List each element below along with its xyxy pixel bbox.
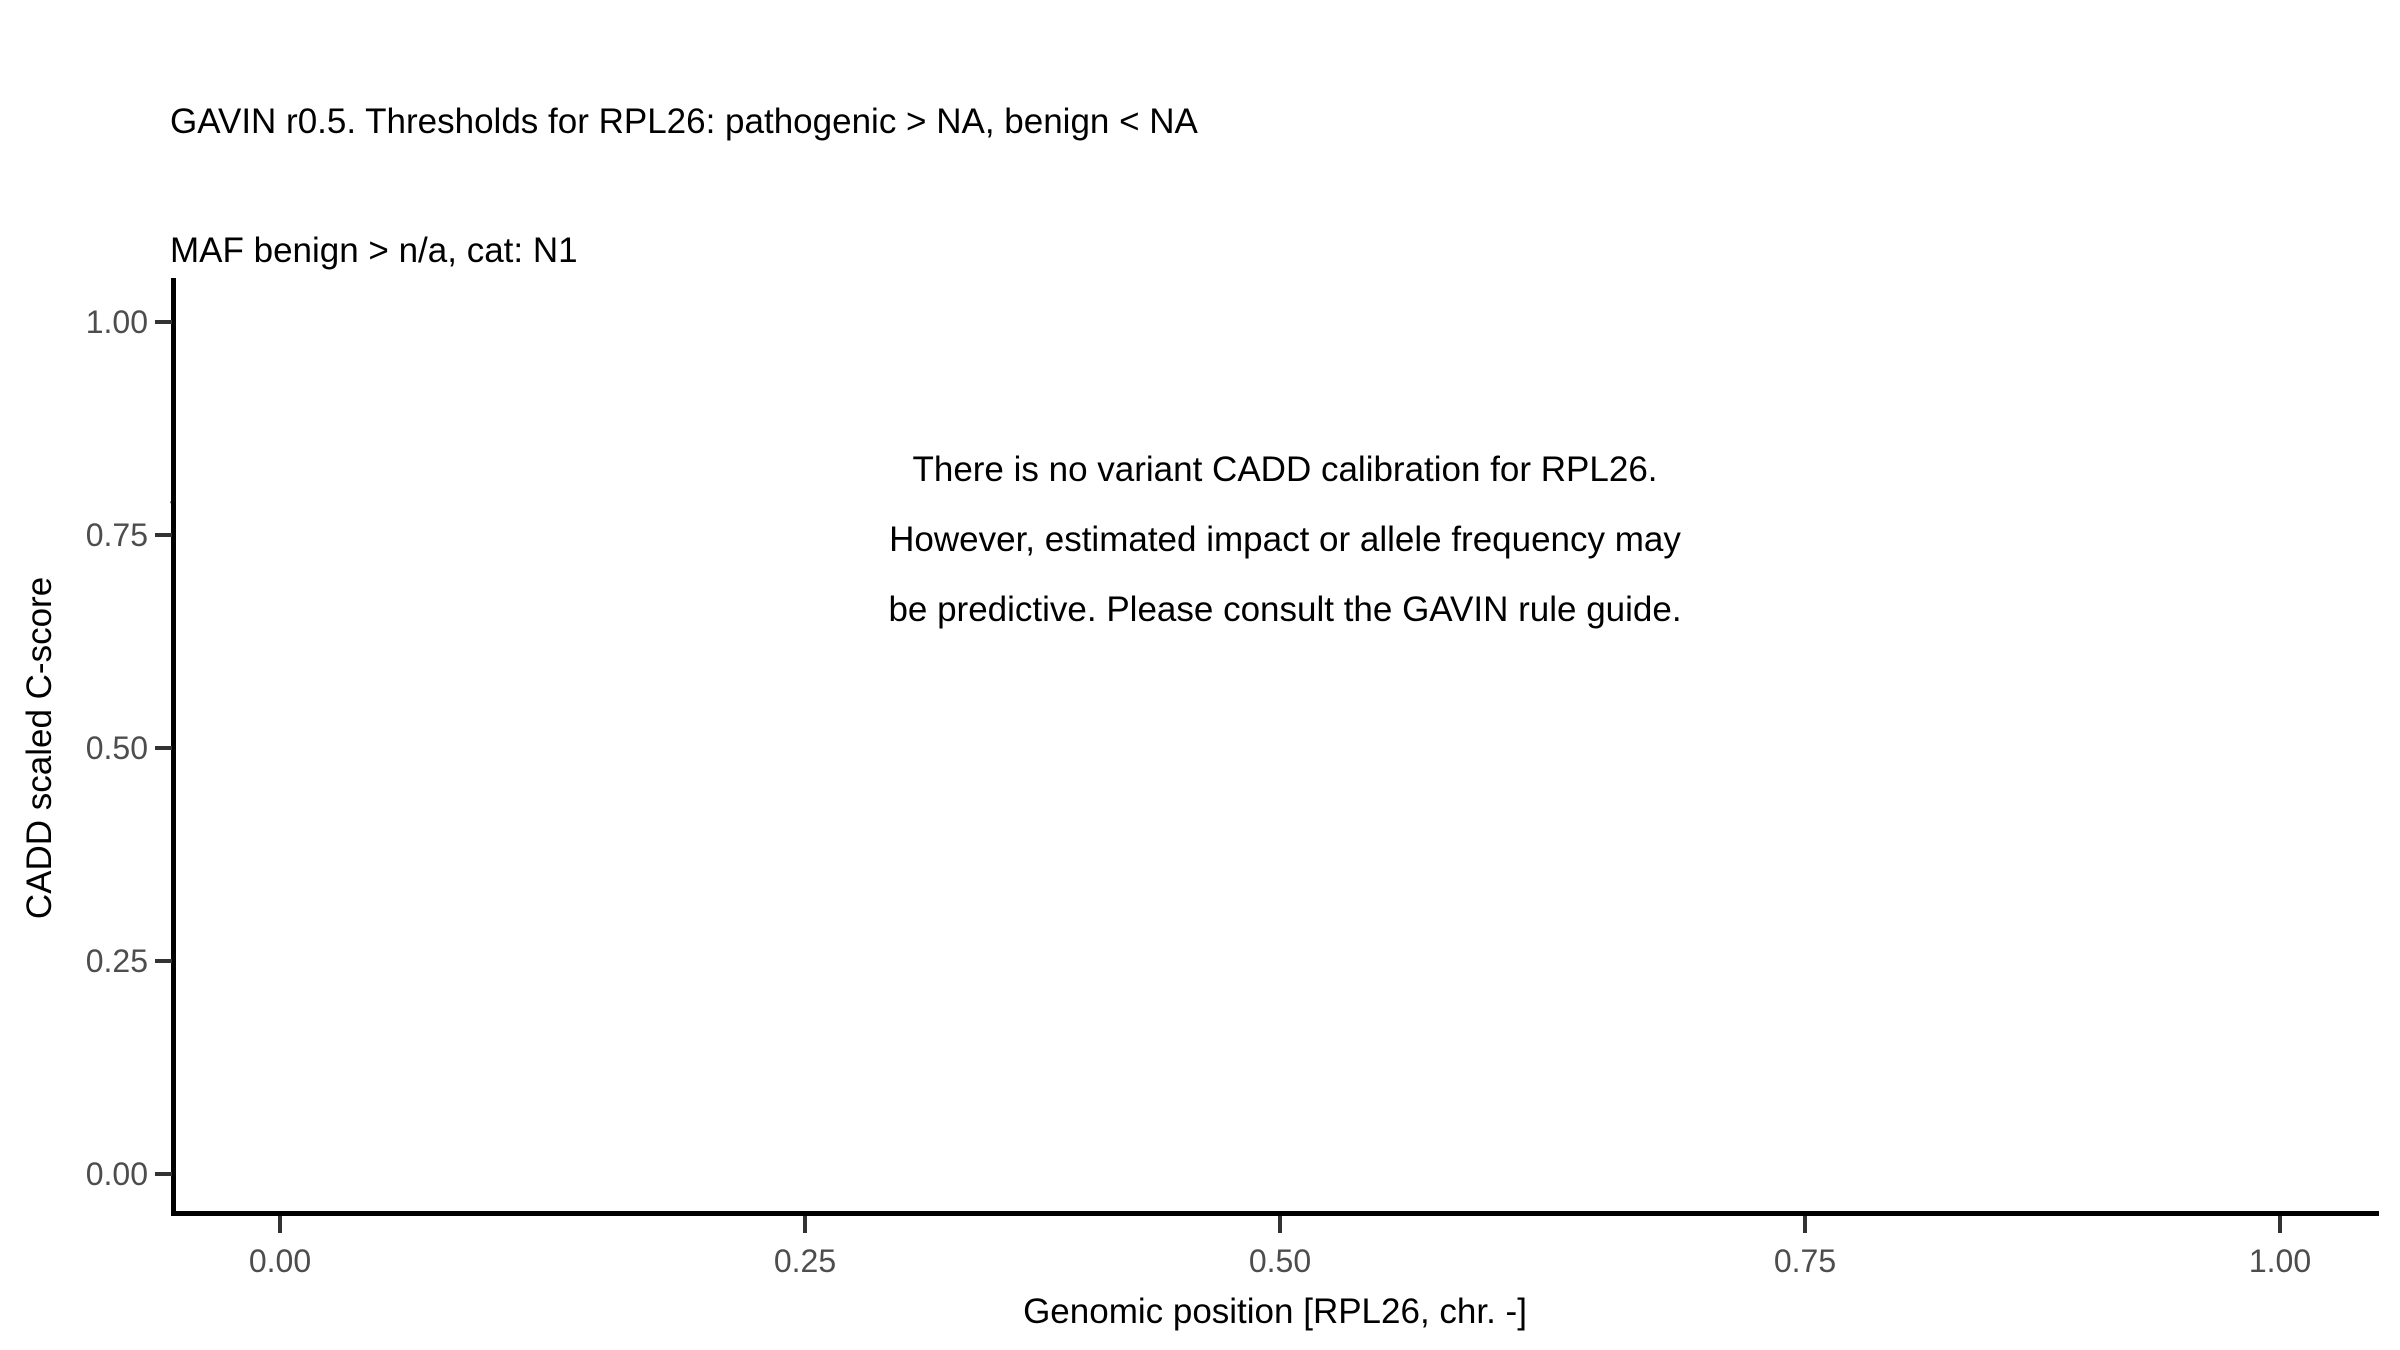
y-tick-mark-0.25 [155, 959, 172, 963]
x-tick-label-0.25: 0.25 [705, 1243, 905, 1280]
plot-panel [176, 278, 2379, 1211]
plot-annotation-line-2: However, estimated impact or allele freq… [460, 505, 2110, 575]
x-tick-label-0.00: 0.00 [180, 1243, 380, 1280]
x-axis-line [171, 1211, 2379, 1216]
plot-annotation-line-3: be predictive. Please consult the GAVIN … [460, 575, 2110, 645]
plot-annotation: There is no variant CADD calibration for… [460, 435, 2110, 645]
y-axis-title: CADD scaled C-score [20, 278, 60, 1218]
plot-title-line-1: GAVIN r0.5. Thresholds for RPL26: pathog… [170, 100, 2170, 143]
x-tick-mark-0.25 [803, 1216, 807, 1233]
x-tick-mark-0.50 [1278, 1216, 1282, 1233]
plot-root: GAVIN r0.5. Thresholds for RPL26: pathog… [0, 0, 2400, 1350]
x-tick-mark-0.75 [1803, 1216, 1807, 1233]
x-tick-label-0.50: 0.50 [1180, 1243, 1380, 1280]
y-tick-mark-0.00 [155, 1172, 172, 1176]
plot-title-line-2: MAF benign > n/a, cat: N1 [170, 229, 2170, 272]
y-tick-mark-0.75 [155, 533, 172, 537]
y-tick-mark-1.00 [155, 320, 172, 324]
y-tick-mark-0.50 [155, 746, 172, 750]
x-tick-label-0.75: 0.75 [1705, 1243, 1905, 1280]
x-tick-label-1.00: 1.00 [2180, 1243, 2380, 1280]
x-axis-title: Genomic position [RPL26, chr. -] [171, 1292, 2379, 1332]
plot-annotation-line-1: There is no variant CADD calibration for… [460, 435, 2110, 505]
x-tick-mark-1.00 [2278, 1216, 2282, 1233]
x-tick-mark-0.00 [278, 1216, 282, 1233]
